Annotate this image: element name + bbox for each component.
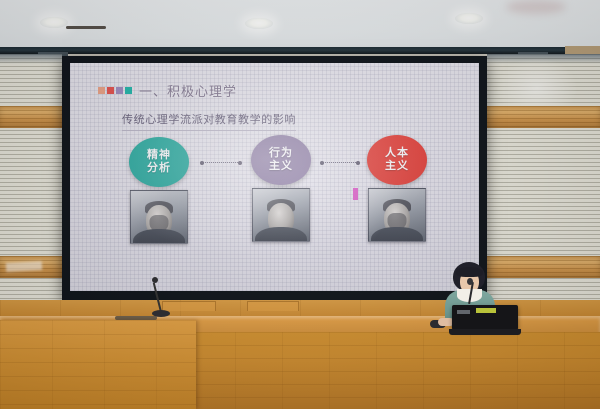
slide-node-psychoanalysis: 精神 分析 xyxy=(124,137,194,244)
bubble-label-line2: 主义 xyxy=(385,160,409,173)
wall-left-top-shadow xyxy=(0,54,62,64)
square-purple-icon xyxy=(116,87,123,94)
slide-subtitle: 传统心理学流派对教育教学的影响 xyxy=(122,111,296,131)
bubble-label-line2: 主义 xyxy=(269,160,293,173)
portrait-freud xyxy=(130,190,188,244)
ceiling-stain xyxy=(506,0,566,14)
desk-left-block xyxy=(0,320,196,409)
portrait-glare xyxy=(369,189,425,241)
ceiling-light-3 xyxy=(455,13,483,24)
connector-arrow-2 xyxy=(322,162,358,164)
screen-mount-rail xyxy=(0,47,600,54)
wall-left-accent-band-upper xyxy=(0,106,62,128)
lecture-hall-photo: 一、积极心理学 传统心理学流派对教育教学的影响 精神 分析 xyxy=(0,0,600,409)
desk-microphone-icon xyxy=(152,277,158,283)
ceiling-light-2 xyxy=(245,18,273,29)
laptop-base xyxy=(449,329,521,335)
slide-node-row: 精神 分析 行 xyxy=(110,135,460,257)
bubble-label-line1: 人本 xyxy=(385,147,409,160)
slide-accent-squares xyxy=(98,87,132,94)
ceiling-light-1 xyxy=(40,17,68,28)
bubble-humanism: 人本 主义 xyxy=(367,135,427,185)
bubble-psychoanalysis: 精神 分析 xyxy=(129,137,189,187)
portrait-maslow xyxy=(368,188,426,242)
projection-screen-frame: 一、积极心理学 传统心理学流派对教育教学的影响 精神 分析 xyxy=(62,56,487,300)
connector-dot-end-icon xyxy=(356,161,360,165)
bubble-behaviorism: 行为 主义 xyxy=(251,135,311,185)
slide-title: 一、积极心理学 xyxy=(139,81,237,100)
slide-header: 一、积极心理学 xyxy=(98,81,237,100)
slide-node-humanism: 人本 主义 xyxy=(362,135,432,242)
presenter-bangs xyxy=(456,267,483,277)
laptop-power-cord xyxy=(66,26,106,29)
handheld-microphone-icon xyxy=(467,278,473,285)
projection-screen-surface: 一、积极心理学 传统心理学流派对教育教学的影响 精神 分析 xyxy=(70,63,479,291)
desk-cable xyxy=(115,316,157,320)
wall-left xyxy=(0,54,62,316)
slide-node-behaviorism: 行为 主义 xyxy=(246,135,316,242)
square-red-icon xyxy=(107,87,114,94)
wall-right xyxy=(487,54,600,316)
connector-dot-start-icon xyxy=(200,161,204,165)
portrait-watson xyxy=(252,188,310,242)
connector-dot-end-icon xyxy=(238,161,242,165)
desk-ledge-right xyxy=(247,301,299,311)
laptop xyxy=(452,305,520,335)
square-salmon-icon xyxy=(98,87,105,94)
desk-ledge-left xyxy=(162,301,216,311)
wall-right-accent-band-upper xyxy=(487,106,600,128)
desk-microphone-base xyxy=(152,310,170,317)
laptop-lid xyxy=(452,305,518,330)
wall-left-scuff xyxy=(6,261,42,272)
connector-dot-start-icon xyxy=(320,161,324,165)
laptop-sticker xyxy=(476,308,496,313)
wall-right-accent-band-lower xyxy=(487,256,600,278)
bubble-label-line1: 精神 xyxy=(147,149,171,162)
portrait-glare xyxy=(131,191,187,243)
bubble-label-line2: 分析 xyxy=(147,162,171,175)
laptop-logo xyxy=(457,310,470,314)
connector-arrow-1 xyxy=(202,162,240,164)
slide-marker xyxy=(353,188,358,200)
bubble-label-line1: 行为 xyxy=(269,147,293,160)
square-teal-icon xyxy=(125,87,132,94)
portrait-glare xyxy=(253,189,309,241)
